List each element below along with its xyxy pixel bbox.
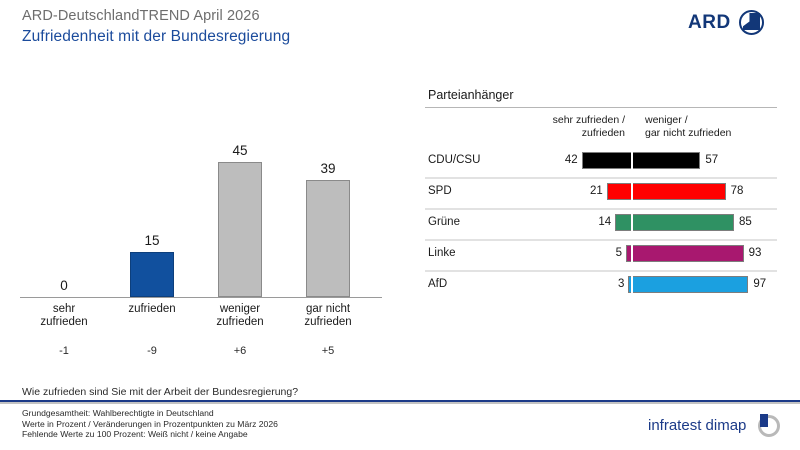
bar-group: 39gar nichtzufrieden+5 [284,60,372,380]
party-value-dissatisfied: 57 [705,154,718,166]
party-bar-center-divider [631,214,633,231]
party-value-satisfied: 14 [598,216,611,228]
bar-change-label: +5 [280,345,376,357]
party-label: Grüne [428,216,460,228]
row-separator [425,208,777,210]
bar-value-label: 45 [196,143,284,158]
page-title: Zufriedenheit mit der Bundesregierung [22,28,290,46]
row-separator [425,239,777,241]
party-bar-satisfied [582,152,632,169]
bar-change-label: +6 [192,345,288,357]
infographic-slide: ARD-DeutschlandTREND April 2026 Zufriede… [0,0,800,450]
party-label: CDU/CSU [428,154,480,166]
bar-group: 15zufrieden-9 [108,60,196,380]
bar-category-label: sehrzufrieden [16,303,112,329]
survey-question: Wie zufrieden sind Sie mit der Arbeit de… [22,386,298,398]
party-bar-dissatisfied [632,152,700,169]
ard-logo-text: ARD [688,12,731,34]
bar-category-line: zufrieden [104,303,200,316]
party-bar-center-divider [631,276,633,293]
party-bar-center-divider [631,183,633,200]
party-supporters-panel: Parteianhänger sehr zufrieden / zufriede… [420,88,780,301]
satisfaction-bar-chart: 0sehrzufrieden-115zufrieden-945wenigerzu… [0,60,400,380]
party-bar-satisfied [607,183,632,200]
party-bar-dissatisfied [632,183,726,200]
bar-category-label: gar nichtzufrieden [280,303,376,329]
row-separator [425,270,777,272]
party-value-satisfied: 5 [616,247,622,259]
party-label: SPD [428,185,452,197]
infratest-dimap-mark-icon [760,414,768,427]
infratest-dimap-logo: infratest dimap [648,414,780,440]
party-value-dissatisfied: 93 [749,247,762,259]
footer-note-2: Werte in Prozent / Veränderungen in Proz… [22,419,278,430]
bar-change-label: -1 [16,345,112,357]
party-value-satisfied: 21 [590,185,603,197]
bar-category-line: sehr [16,303,112,316]
party-bar-dissatisfied [632,276,748,293]
column-header-dissatisfied: weniger / gar nicht zufrieden [645,114,731,140]
party-row: SPD2178 [420,177,780,208]
party-bar-center-divider [631,245,633,262]
chart-bar [130,252,174,297]
panel-title: Parteianhänger [420,88,780,107]
footer-note-3: Fehlende Werte zu 100 Prozent: Weiß nich… [22,429,278,440]
party-value-satisfied: 42 [565,154,578,166]
party-value-satisfied: 3 [618,278,624,290]
footer-notes: Grundgesamtheit: Wahlberechtigte in Deut… [22,408,278,440]
footer-note-1: Grundgesamtheit: Wahlberechtigte in Deut… [22,408,278,419]
party-row: AfD397 [420,270,780,301]
bar-category-line: gar nicht [280,303,376,316]
bar-group: 0sehrzufrieden-1 [20,60,108,380]
party-row: Grüne1485 [420,208,780,239]
party-value-dissatisfied: 85 [739,216,752,228]
bar-category-label: zufrieden [104,303,200,316]
ard-logo: ARD [688,8,780,38]
party-bar-center-divider [631,152,633,169]
party-bar-dissatisfied [632,214,734,231]
row-separator [425,146,777,148]
bar-category-line: zufrieden [192,316,288,329]
column-header-satisfied: sehr zufrieden / zufrieden [553,114,625,140]
row-separator [425,177,777,179]
party-row: CDU/CSU4257 [420,146,780,177]
party-bar-satisfied [615,214,632,231]
party-label: Linke [428,247,456,259]
bar-value-label: 15 [108,233,196,248]
bar-value-label: 39 [284,161,372,176]
panel-column-headers: sehr zufrieden / zufrieden weniger / gar… [420,108,780,146]
bar-category-label: wenigerzufrieden [192,303,288,329]
party-value-dissatisfied: 97 [753,278,766,290]
footer-rule-secondary [0,402,800,404]
party-label: AfD [428,278,447,290]
bar-category-line: weniger [192,303,288,316]
chart-bar [306,180,350,297]
bar-category-line: zufrieden [280,316,376,329]
infratest-dimap-logo-text: infratest dimap [648,417,746,434]
slide-subtitle: ARD-DeutschlandTREND April 2026 [22,8,260,24]
bar-value-label: 0 [20,278,108,293]
party-bar-dissatisfied [632,245,744,262]
bar-group: 45wenigerzufrieden+6 [196,60,284,380]
party-value-dissatisfied: 78 [731,185,744,197]
party-row: Linke593 [420,239,780,270]
bar-change-label: -9 [104,345,200,357]
chart-bar [218,162,262,297]
bar-category-line: zufrieden [16,316,112,329]
